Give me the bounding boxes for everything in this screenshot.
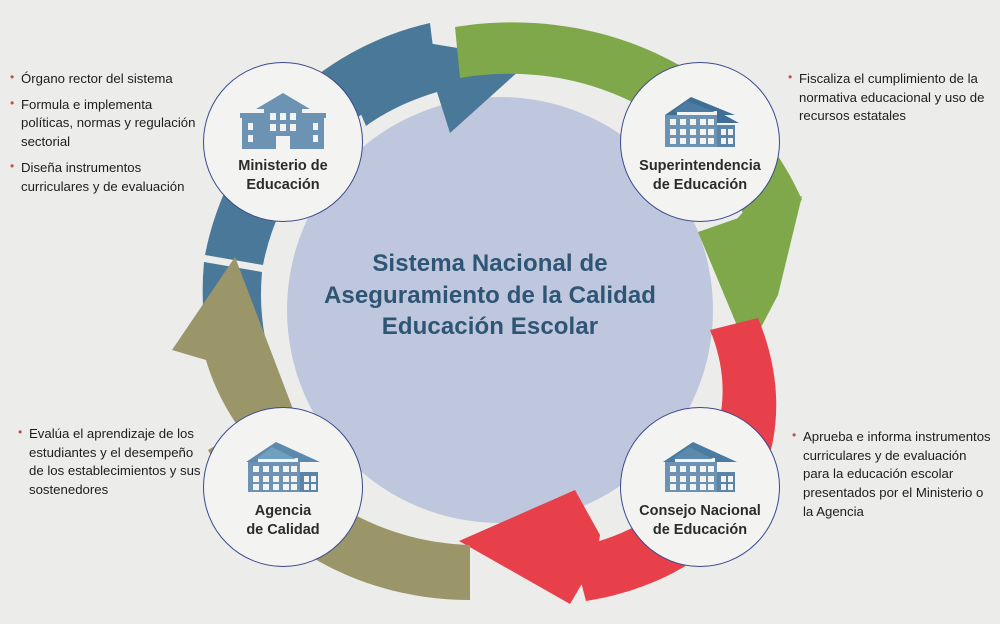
node-label-line-1: Consejo Nacional	[625, 502, 775, 521]
bullet-item: Aprueba e informa instrumentos curricula…	[792, 428, 992, 522]
bullet-item: Fiscaliza el cumplimiento de la normativ…	[788, 70, 988, 126]
title-line-3: Educación Escolar	[285, 311, 695, 343]
node-label: Consejo Nacional de Educación	[625, 502, 775, 539]
bullet-item: Diseña instrumentos curriculares y de ev…	[10, 159, 206, 196]
node-label-line-2: de Calidad	[208, 521, 358, 540]
bullet-item: Evalúa el aprendizaje de los estudiantes…	[18, 425, 204, 500]
bullet-list-consejo: Aprueba e informa instrumentos curricula…	[792, 428, 992, 522]
bullet-list-agencia: Evalúa el aprendizaje de los estudiantes…	[18, 425, 204, 500]
title-line-1: Sistema Nacional de	[285, 248, 695, 280]
node-label-line-2: de Educación	[625, 176, 775, 195]
school-building-icon	[657, 89, 743, 151]
bullet-list-superintendencia: Fiscaliza el cumplimiento de la normativ…	[788, 70, 988, 126]
node-label-line-2: Educación	[208, 176, 358, 195]
node-label-line-1: Superintendencia	[625, 157, 775, 176]
bullet-item: Formula e implementa políticas, normas y…	[10, 96, 206, 152]
title-line-2: Aseguramiento de la Calidad	[285, 280, 695, 312]
node-label-line-1: Ministerio de	[208, 157, 358, 176]
node-superintendencia-de-educacion[interactable]: Superintendencia de Educación	[620, 62, 780, 222]
page-title: Sistema Nacional de Aseguramiento de la …	[285, 248, 695, 343]
node-label: Ministerio de Educación	[208, 157, 358, 194]
node-ministerio-de-educacion[interactable]: Ministerio de Educación	[203, 62, 363, 222]
school-building-icon	[657, 434, 743, 496]
bullet-item: Órgano rector del sistema	[10, 70, 206, 89]
node-consejo-nacional-de-educacion[interactable]: Consejo Nacional de Educación	[620, 407, 780, 567]
node-label-line-1: Agencia	[208, 502, 358, 521]
bullet-list-ministerio: Órgano rector del sistema Formula e impl…	[10, 70, 206, 196]
diagram-canvas: Sistema Nacional de Aseguramiento de la …	[0, 0, 1000, 624]
node-label: Superintendencia de Educación	[625, 157, 775, 194]
node-agencia-de-calidad[interactable]: Agencia de Calidad	[203, 407, 363, 567]
node-label-line-2: de Educación	[625, 521, 775, 540]
school-building-icon	[240, 434, 326, 496]
node-label: Agencia de Calidad	[208, 502, 358, 539]
school-building-icon	[240, 89, 326, 151]
